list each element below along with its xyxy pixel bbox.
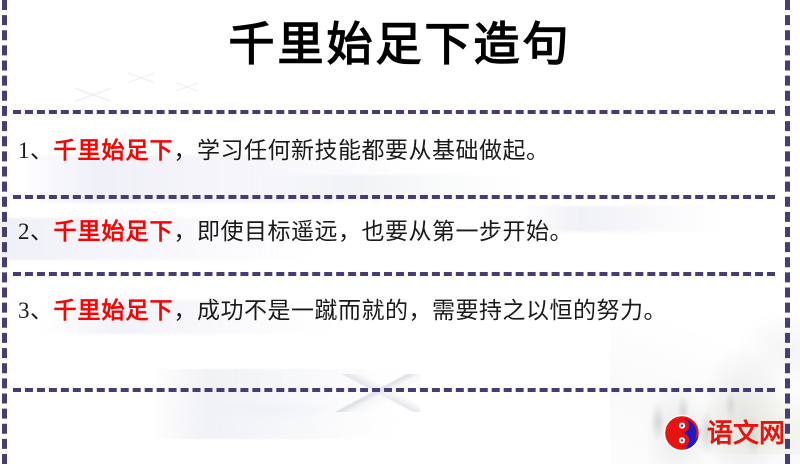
- divider-above-sentence-3: [13, 272, 775, 276]
- bird-watermark: [176, 82, 198, 92]
- bird-watermark: [75, 88, 111, 102]
- logo-text: 语文网: [707, 420, 785, 446]
- sentence-number: 1、: [18, 138, 54, 163]
- highlighted-idiom: 千里始足下: [54, 219, 174, 244]
- bird-watermark: [128, 72, 154, 84]
- sentence-text: ，学习任何新技能都要从基础做起。: [174, 138, 550, 163]
- sentence-number: 3、: [18, 298, 54, 323]
- site-logo[interactable]: 语文网: [663, 411, 791, 455]
- highlighted-idiom: 千里始足下: [54, 298, 174, 323]
- divider-below-sentence-3: [13, 388, 775, 392]
- highlighted-idiom: 千里始足下: [54, 138, 174, 163]
- boat-watermark: [150, 369, 420, 439]
- divider-above-sentence-1: [13, 110, 775, 114]
- sentence-item-1: 1、千里始足下，学习任何新技能都要从基础做起。: [18, 131, 770, 170]
- yuwen-emblem-icon: [663, 414, 701, 452]
- sentence-number: 2、: [18, 219, 54, 244]
- sentence-item-2: 2、千里始足下，即使目标遥远，也要从第一步开始。: [18, 212, 770, 251]
- sentence-text: ，即使目标遥远，也要从第一步开始。: [174, 219, 574, 244]
- sail-watermark: [330, 374, 420, 412]
- page-title: 千里始足下造句: [0, 17, 800, 73]
- sentence-text: ，成功不是一蹴而就的，需要持之以恒的努力。: [174, 298, 668, 323]
- slide-canvas: 千里始足下造句 1、千里始足下，学习任何新技能都要从基础做起。 2、千里始足下，…: [0, 0, 800, 464]
- sentence-item-3: 3、千里始足下，成功不是一蹴而就的，需要持之以恒的努力。: [18, 291, 770, 330]
- divider-above-sentence-2: [13, 195, 775, 199]
